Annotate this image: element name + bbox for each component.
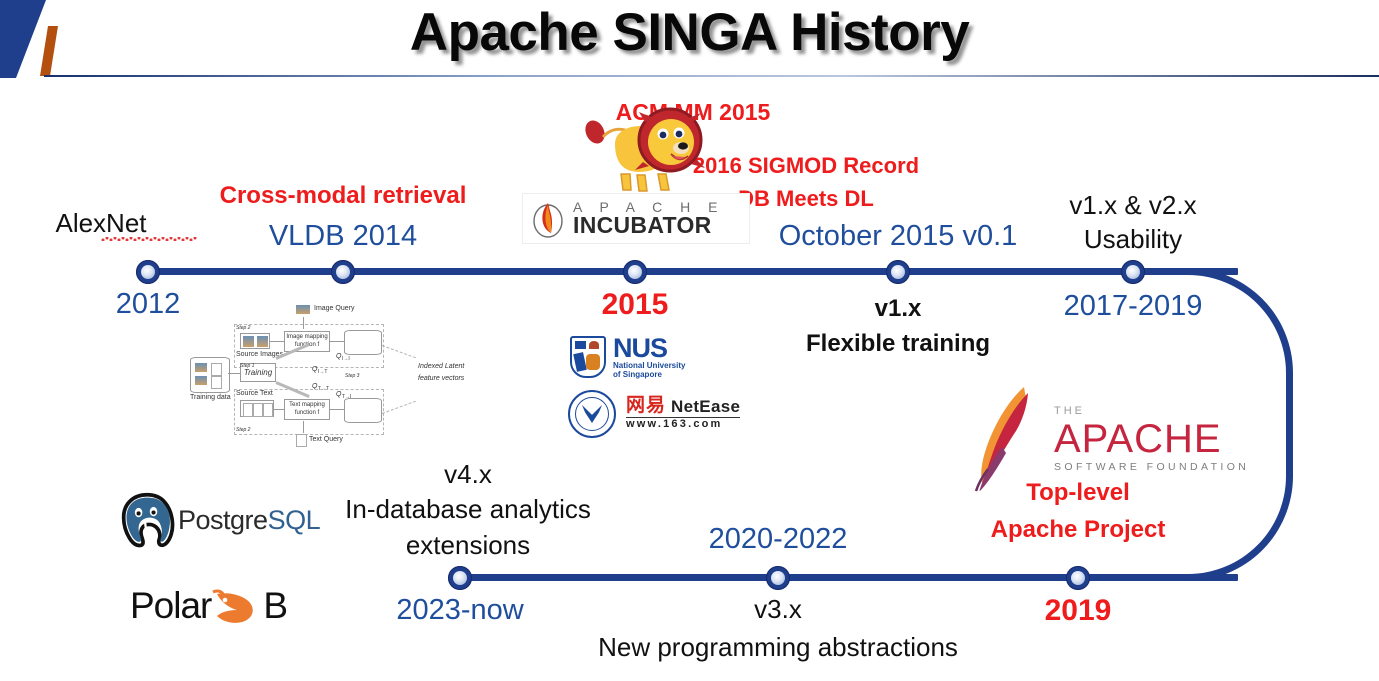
diagram-indexed-l2: feature vectors [418,375,464,382]
diagram-text-mapping-l2: function f [295,410,319,418]
timeline-node-v1x[interactable] [886,260,910,284]
diagram-q-ii-sub: I→I [342,356,350,362]
diagram-q-ii: Q [336,353,341,360]
label-years-2017-2019: 2017-2019 [1064,290,1203,323]
label-alexnet: AlexNet [55,208,146,239]
diagram-image-query-thumb [296,305,310,314]
polardb-word-a: Polar [130,585,211,627]
netease-english: NetEase [671,398,740,416]
asf-the: THE [1054,406,1249,417]
diagram-image-mapping-box: Image mapping function f [284,331,330,352]
timeline-node-2014[interactable] [331,260,355,284]
apache-feather-icon [972,385,1050,493]
diagram-step2b: Step 2 [236,427,250,433]
label-vldb-2014: VLDB 2014 [269,220,417,253]
timeline-node-2015[interactable] [623,260,647,284]
apache-software-foundation-logo: THE APACHE SOFTWARE FOUNDATION [972,385,1249,493]
netease-url: www.163.com [626,417,740,431]
label-year-2012: 2012 [116,288,181,321]
timeline-rail-top [148,268,1238,275]
diagram-source-text-box [240,400,274,417]
label-new-programming-abstractions: New programming abstractions [598,632,958,663]
postgresql-elephant-icon [118,492,176,548]
diagram-text-mapping-box: Text mapping function f [284,399,330,420]
label-2023-now: 2023-now [396,594,523,627]
polardb-logo: Polar B [130,585,287,627]
nus-logo: NUS National University of Singapore [570,334,685,379]
diagram-label-source-text: Source Text [236,390,273,397]
nus-line2: of Singapore [613,371,685,379]
label-v4x: v4.x [444,459,492,490]
diagram-label-image-query: Image Query [314,305,354,312]
label-october-2015-v01: October 2015 v0.1 [779,220,1018,253]
diagram-training-data-cylinder [190,357,230,393]
cross-modal-retrieval-diagram: Image Query Step 2 Source Images Image m… [190,305,500,450]
label-usability: Usability [1084,224,1182,255]
diagram-text-mapping-l1: Text mapping [289,402,325,410]
label-sigmod-record: 2016 SIGMOD Record [693,153,919,179]
label-extensions: extensions [406,530,530,561]
label-db-meets-dl: DB Meets DL [738,186,874,212]
label-years-2020-2022: 2020-2022 [709,523,848,556]
apache-incubator-logo: A P A C H E INCUBATOR [522,193,750,244]
diagram-q-it: Q [312,366,317,373]
label-flexible-training: Flexible training [806,330,990,358]
label-v3x: v3.x [754,594,802,625]
polardb-word-b: B [263,585,287,627]
diagram-label-training-data: Training data [190,394,231,401]
postgresql-word-a: Postgre [178,505,268,535]
slide-canvas: Apache SINGA History AlexNet 2012 Cross-… [0,0,1379,681]
netease-chinese: 网易 [626,396,666,416]
diagram-step3: Step 3 [345,373,359,379]
label-cross-modal-retrieval: Cross-modal retrieval [220,182,467,210]
timeline-node-2012[interactable] [136,260,160,284]
asf-wordmark: APACHE [1054,419,1249,459]
polardb-bear-icon [211,586,263,626]
label-year-2015: 2015 [602,288,669,322]
page-title: Apache SINGA History [0,2,1379,63]
diagram-step2a: Step 2 [236,325,250,331]
diagram-indexed-l1: Indexed Latent [418,363,464,370]
label-apache-project: Apache Project [991,516,1166,544]
spellcheck-underline [101,237,197,241]
timeline-rail-bottom [460,574,1238,581]
diagram-text-query-icon [296,434,307,447]
timeline-node-2019[interactable] [1066,566,1090,590]
label-v1x-v2x: v1.x & v2.x [1069,190,1196,221]
incubator-feather-icon [531,199,565,239]
netease-logo: 网易 NetEase www.163.com [626,396,740,430]
timeline-node-2020-2022[interactable] [766,566,790,590]
diagram-q-it-sub: I→T [318,369,327,375]
label-year-2019: 2019 [1045,594,1112,628]
header-divider [44,75,1379,77]
postgresql-word-b: SQL [268,505,321,535]
diagram-latent-index-bottom [344,398,382,423]
nus-crest-icon [570,336,606,378]
postgresql-logo: PostgreSQL [118,492,320,548]
postgresql-wordmark: PostgreSQL [178,505,320,536]
nus-acronym: NUS [613,334,685,362]
incubator-line2: INCUBATOR [573,214,724,237]
label-v1x: v1.x [875,295,922,323]
acm-mm-lion-mascot [575,92,710,197]
diagram-step1: Step 1 [240,363,254,369]
asf-tagline: SOFTWARE FOUNDATION [1054,462,1249,473]
label-in-database-analytics: In-database analytics [345,494,591,525]
diagram-label-text-query: Text Query [309,436,343,443]
timeline-node-2017-2019[interactable] [1121,260,1145,284]
zhejiang-university-seal [568,390,616,438]
diagram-source-images-box [240,333,270,349]
timeline-node-2023-now[interactable] [448,566,472,590]
diagram-latent-index-top [344,330,382,355]
diagram-image-mapping-l1: Image mapping [286,334,327,342]
diagram-label-training: Training [244,368,272,378]
